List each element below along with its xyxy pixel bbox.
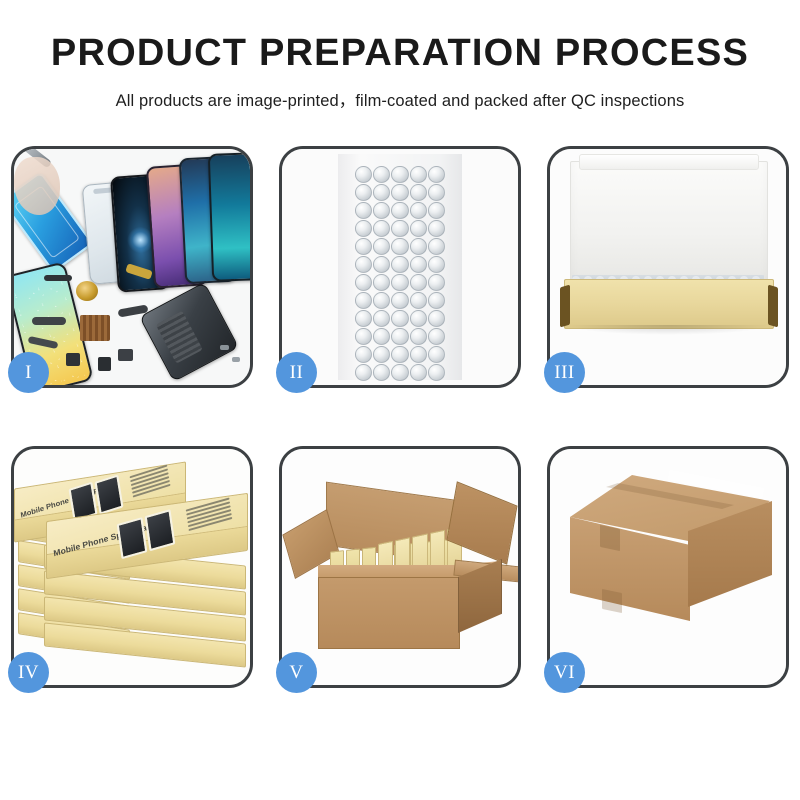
bubble-cell [373,256,390,273]
bubble-cell [410,184,427,201]
bubble-cell [410,274,427,291]
page-header: PRODUCT PREPARATION PROCESS All products… [0,0,800,111]
open-carton-scene [282,449,518,685]
carton-handle-tab-top [600,525,620,551]
bubble-cell [355,346,372,363]
bubble-cell [391,202,408,219]
bubble-cell [391,256,408,273]
retail-box-screen-image-4 [145,509,176,551]
bubble-cell [355,238,372,255]
phone-teal-screen [208,152,250,282]
bubble-cell [410,292,427,309]
bubble-cell [410,364,427,381]
bubble-cell [428,274,445,291]
bubble-cell [410,202,427,219]
bubble-cell [391,274,408,291]
bubble-cell [373,202,390,219]
step-panel-6: VI [547,446,789,688]
phone-back-housing [139,282,239,382]
bubble-cell [355,274,372,291]
step-image-5 [282,449,518,685]
step-image-6 [550,449,786,685]
bubble-cell [355,166,372,183]
part-speaker-module [98,357,111,371]
bubble-cell [373,274,390,291]
bubble-cell [355,292,372,309]
bubble-cell [391,292,408,309]
bubble-cell [355,328,372,345]
bubble-cell [428,184,445,201]
carton-handle-tab-bottom [602,589,622,613]
step-image-2 [282,149,518,385]
bubble-cell [428,238,445,255]
step-image-1 [14,149,250,385]
stacked-boxes-scene: Mobile Phone Spare Parts Mobile Phone Sp… [14,449,250,685]
bubble-cell [373,310,390,327]
bubble-cell [373,184,390,201]
bubble-cell [373,238,390,255]
bubble-cell [410,220,427,237]
part-connector-module [118,349,133,361]
bubble-wrap-scene [282,149,518,385]
bubble-cell [391,310,408,327]
retail-box-screen-image-3 [117,517,148,559]
bubble-cell [373,364,390,381]
bubble-cell [391,166,408,183]
bubble-cell [373,292,390,309]
step-panel-4: Mobile Phone Spare Parts Mobile Phone Sp… [11,446,253,688]
step-panel-2: II [279,146,521,388]
bubble-cell [428,346,445,363]
retail-box-screen-image-2 [94,474,123,514]
step-image-4: Mobile Phone Spare Parts Mobile Phone Sp… [14,449,250,685]
part-screw-b [232,357,240,362]
step-image-3 [550,149,786,385]
bubble-cell [391,220,408,237]
bubble-cell [428,364,445,381]
part-logic-chip [80,315,110,341]
bubble-cell [355,220,372,237]
bubble-cell [355,184,372,201]
bubble-cell [355,202,372,219]
bubble-cell [373,346,390,363]
step-badge-3: III [544,352,585,393]
inner-box-tray [564,279,774,329]
step-badge-2: II [276,352,317,393]
bubble-cell [391,238,408,255]
step-panel-1: I [11,146,253,388]
bubble-cell [391,364,408,381]
bubble-cell [428,292,445,309]
inner-box-lid [570,161,768,291]
process-steps-grid: I [11,146,789,688]
step-badge-6: VI [544,652,585,693]
part-vibration-motor [76,281,98,301]
page-title: PRODUCT PREPARATION PROCESS [0,34,800,74]
part-flex-cable-a [32,317,66,325]
bubble-cell [410,328,427,345]
part-camera-module [66,353,80,366]
bubble-cell [355,364,372,381]
step-badge-5: V [276,652,317,693]
bubble-cell [373,166,390,183]
bubble-cell [355,256,372,273]
step-badge-1: I [8,352,49,393]
bubble-cell [410,256,427,273]
bubble-wrap-pouch [338,154,462,380]
bubble-cell [410,238,427,255]
box-shadow [566,325,770,335]
step-panel-3: III [547,146,789,388]
page-subtitle: All products are image-printed，film-coat… [0,87,800,111]
carton-front-face [318,577,460,649]
step-badge-4: IV [8,652,49,693]
bubble-cell [428,310,445,327]
step-panel-5: V [279,446,521,688]
bubble-cell [391,184,408,201]
bubble-cell [428,202,445,219]
bubble-cell [373,328,390,345]
inner-box-scene [550,149,786,385]
bubble-cell [428,220,445,237]
bubble-grid [355,166,445,372]
bubble-cell [410,166,427,183]
bubble-cell [428,166,445,183]
bubble-cell [391,328,408,345]
part-screw-a [220,345,229,350]
part-earpiece-mesh [44,275,72,281]
bubble-cell [410,346,427,363]
phone-parts-scene [14,149,250,385]
bubble-cell [373,220,390,237]
bubble-cell [391,346,408,363]
sealed-carton-scene [550,449,786,685]
bubble-cell [410,310,427,327]
bubble-cell [355,310,372,327]
bubble-cell [428,256,445,273]
bubble-cell [428,328,445,345]
